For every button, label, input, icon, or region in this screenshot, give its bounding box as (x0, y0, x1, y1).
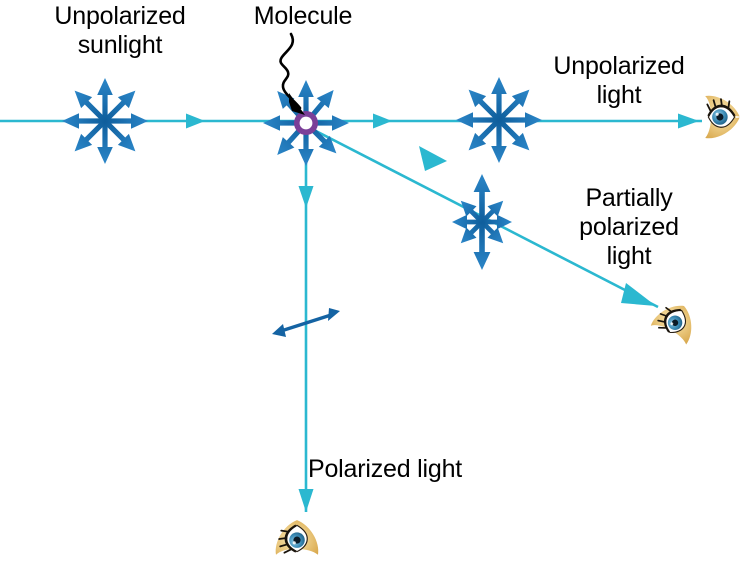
label-molecule: Molecule (233, 2, 373, 31)
label-polarized-light: Polarized light (308, 455, 518, 484)
observer-eye-bottom (276, 520, 319, 555)
polarization-scattering-figure: Unpolarized sunlight Molecule Unpolarize… (0, 0, 750, 566)
ray-arrowhead-icon (678, 114, 699, 129)
ray-arrowhead-icon (419, 146, 447, 171)
unpolarized-sunlight-starburst (62, 78, 148, 164)
ray-arrowhead-icon (299, 186, 314, 208)
ray-arrowhead-icon (373, 114, 392, 129)
label-unpolarized-light: Unpolarized light (528, 52, 710, 110)
incident-ray (0, 114, 306, 129)
molecule-marker (294, 111, 318, 135)
observer-eye-diagonal (651, 296, 702, 344)
observer-eye-right (705, 96, 745, 139)
partially-polarized-starburst (452, 174, 512, 270)
arrowhead-icon (272, 324, 286, 337)
ray-arrowhead-icon (186, 114, 205, 129)
ray-arrowhead-icon (621, 283, 656, 306)
ray-group (0, 114, 702, 513)
arrowhead-icon (328, 308, 340, 321)
ray-arrowhead-icon (299, 489, 314, 512)
label-unpolarized-sunlight: Unpolarized sunlight (20, 2, 220, 60)
label-partially-polarized-light: Partially polarized light (540, 184, 718, 271)
